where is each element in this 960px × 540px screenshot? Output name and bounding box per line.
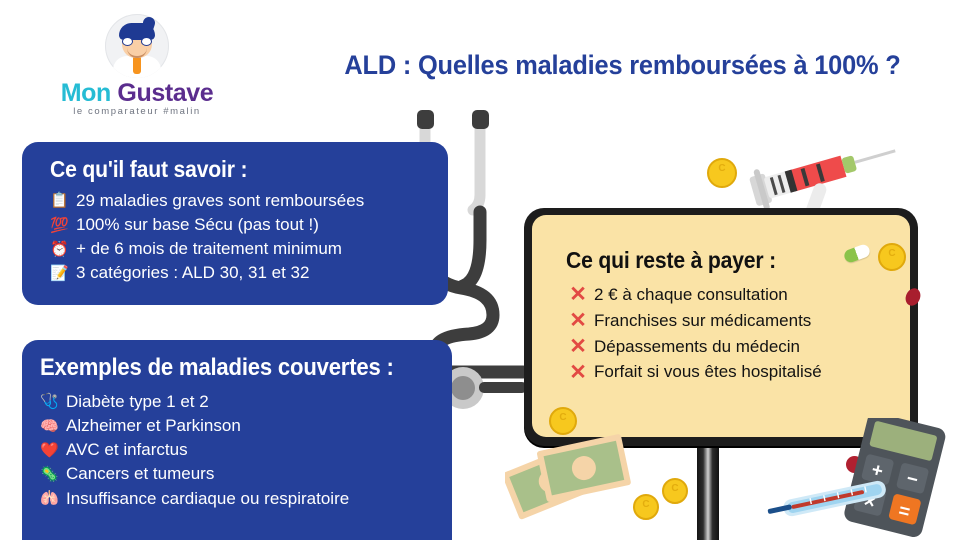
list-item: 🩺 Diabète type 1 et 2 xyxy=(38,390,452,414)
thermometer-illustration xyxy=(765,470,905,530)
red-cross-icon: ✕ xyxy=(565,336,591,357)
coin-icon: C xyxy=(707,158,737,188)
coin-icon: C xyxy=(662,478,688,504)
panel-covered-diseases: Exemples de maladies couvertes : 🩺 Diabè… xyxy=(22,340,452,540)
infographic-canvas: Mon Gustave le comparateur #malin ALD : … xyxy=(0,0,960,540)
list-item: 💯 100% sur base Sécu (pas tout !) xyxy=(48,213,448,237)
list-item-label: Cancers et tumeurs xyxy=(66,462,214,486)
brand-logo[interactable]: Mon Gustave le comparateur #malin xyxy=(52,14,222,117)
doctor-avatar-icon xyxy=(105,14,169,78)
list-item-label: + de 6 mois de traitement minimum xyxy=(76,237,342,261)
lungs-icon: 🫁 xyxy=(38,488,61,509)
list-item: 🫁 Insuffisance cardiaque ou respiratoire xyxy=(38,487,452,511)
brand-name: Mon Gustave xyxy=(52,80,222,106)
panel-what-to-know-heading: Ce qu'il faut savoir : xyxy=(50,156,416,183)
board-post xyxy=(697,440,719,540)
banknotes-illustration xyxy=(505,425,655,540)
panel-remaining-costs: Ce qui reste à payer : ✕ 2 € à chaque co… xyxy=(524,208,918,446)
list-item: ✕ Forfait si vous êtes hospitalisé xyxy=(565,359,910,385)
microbe-icon: 🦠 xyxy=(38,464,61,485)
page-title: ALD : Quelles maladies remboursées à 100… xyxy=(319,50,925,81)
red-cross-icon: ✕ xyxy=(565,362,591,383)
list-item-label: 2 € à chaque consultation xyxy=(594,282,788,308)
list-item-label: 3 catégories : ALD 30, 31 et 32 xyxy=(76,261,309,285)
brand-name-part2: Gustave xyxy=(117,79,213,107)
list-item-label: AVC et infarctus xyxy=(66,438,188,462)
red-cross-icon: ✕ xyxy=(565,310,591,331)
stethoscope-icon: 🩺 xyxy=(38,391,61,412)
clipboard-icon: 📋 xyxy=(48,190,71,211)
list-item: ⏰ + de 6 mois de traitement minimum xyxy=(48,237,448,261)
red-cross-icon: ✕ xyxy=(565,284,591,305)
list-item: 🦠 Cancers et tumeurs xyxy=(38,462,452,486)
list-item: 📋 29 maladies graves sont remboursées xyxy=(48,189,448,213)
covered-diseases-list: 🩺 Diabète type 1 et 2 🧠 Alzheimer et Par… xyxy=(38,390,452,511)
list-item: ✕ 2 € à chaque consultation xyxy=(565,282,910,308)
panel-covered-diseases-heading: Exemples de maladies couvertes : xyxy=(40,354,419,382)
hundred-points-icon: 💯 xyxy=(48,215,71,236)
remaining-costs-list: ✕ 2 € à chaque consultation ✕ Franchises… xyxy=(565,282,910,385)
list-item: 🧠 Alzheimer et Parkinson xyxy=(38,414,452,438)
brand-tagline: le comparateur #malin xyxy=(52,106,222,117)
list-item: ❤️ AVC et infarctus xyxy=(38,438,452,462)
list-item: ✕ Franchises sur médicaments xyxy=(565,308,910,334)
heart-icon: ❤️ xyxy=(38,440,61,461)
brand-name-part1: Mon xyxy=(61,79,111,107)
syringe-illustration xyxy=(740,125,920,215)
list-item-label: 29 maladies graves sont remboursées xyxy=(76,189,364,213)
brain-icon: 🧠 xyxy=(38,416,61,437)
list-item-label: Diabète type 1 et 2 xyxy=(66,390,209,414)
panel-what-to-know: Ce qu'il faut savoir : 📋 29 maladies gra… xyxy=(22,142,448,305)
alarm-clock-icon: ⏰ xyxy=(48,239,71,260)
list-item-label: Dépassements du médecin xyxy=(594,334,800,360)
list-item: 📝 3 catégories : ALD 30, 31 et 32 xyxy=(48,261,448,285)
list-item-label: 100% sur base Sécu (pas tout !) xyxy=(76,213,319,237)
list-item-label: Insuffisance cardiaque ou respiratoire xyxy=(66,487,349,511)
panel-remaining-costs-heading: Ce qui reste à payer : xyxy=(566,247,882,274)
list-item: ✕ Dépassements du médecin xyxy=(565,334,910,360)
what-to-know-list: 📋 29 maladies graves sont remboursées 💯 … xyxy=(48,189,448,286)
memo-icon: 📝 xyxy=(48,263,71,284)
list-item-label: Franchises sur médicaments xyxy=(594,308,811,334)
coin-icon: C xyxy=(878,243,906,271)
list-item-label: Alzheimer et Parkinson xyxy=(66,414,241,438)
list-item-label: Forfait si vous êtes hospitalisé xyxy=(594,359,822,385)
